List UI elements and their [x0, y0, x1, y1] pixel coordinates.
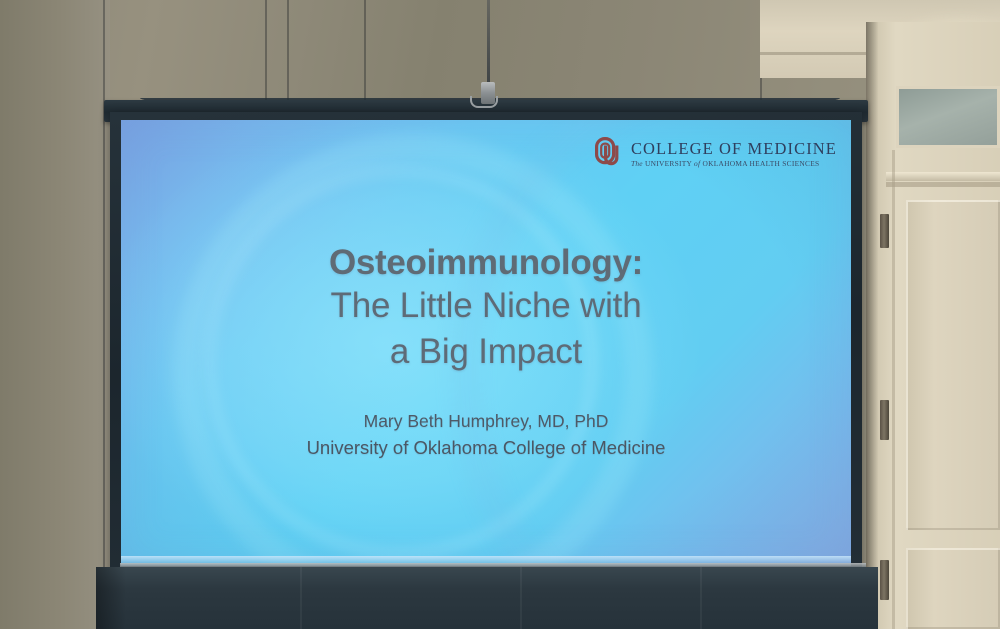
door-upper-panel [906, 200, 1000, 530]
slide-content: Osteoimmunology: The Little Niche with a… [121, 120, 851, 566]
room-photo-scene: COLLEGE OF MEDICINE The UNIVERSITY of OK… [0, 0, 1000, 629]
skirt-fold-1 [300, 567, 302, 629]
door-hinge-middle [880, 400, 889, 440]
door-hinge-bottom [880, 560, 889, 600]
title-line-2: The Little Niche with [121, 283, 851, 329]
wall-seam-2 [265, 0, 267, 100]
wall-seam-1 [103, 0, 105, 575]
door-stile [892, 150, 895, 629]
title-line-1: Osteoimmunology: [121, 242, 851, 283]
door-lower-panel [906, 548, 1000, 629]
door-transom-window [896, 86, 1000, 148]
presenter-affiliation: University of Oklahoma College of Medici… [121, 434, 851, 462]
skirt-left-shadow [96, 567, 126, 629]
wall-seam-4 [364, 0, 366, 100]
projected-slide[interactable]: COLLEGE OF MEDICINE The UNIVERSITY of OK… [121, 120, 851, 566]
door-top-rail-shadow [886, 182, 1000, 187]
presenter-name: Mary Beth Humphrey, MD, PhD [121, 408, 851, 434]
table-skirt [96, 567, 878, 629]
door-top-rail [886, 172, 1000, 181]
slide-title: Osteoimmunology: The Little Niche with a… [121, 242, 851, 374]
screen-hanger-clip [481, 82, 495, 104]
skirt-fold-3 [700, 567, 702, 629]
wall-seam-3 [287, 0, 289, 100]
skirt-fold-2 [520, 567, 522, 629]
door-hinge-top [880, 214, 889, 248]
title-line-3: a Big Impact [121, 329, 851, 375]
left-wall-panel [0, 0, 110, 629]
slide-byline: Mary Beth Humphrey, MD, PhD University o… [121, 408, 851, 462]
